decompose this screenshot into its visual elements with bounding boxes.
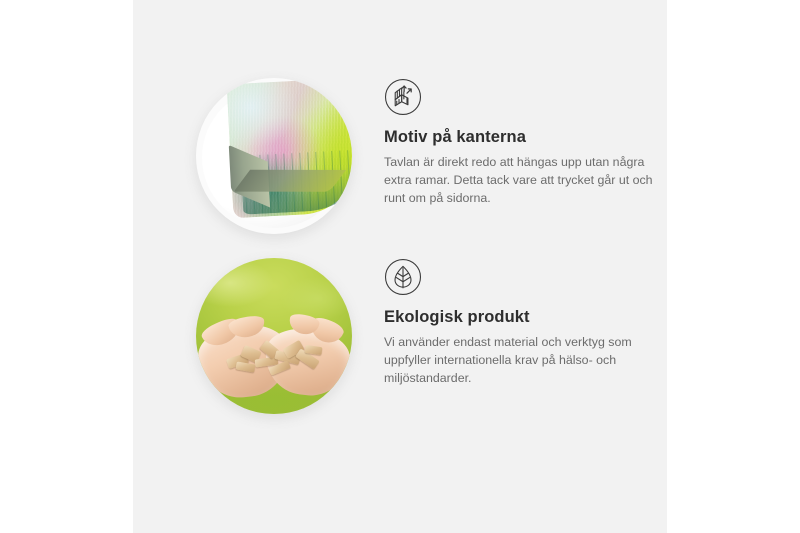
canvas-block [227, 78, 352, 219]
canvas-wrapped-edges-icon [384, 78, 422, 116]
content-panel: Motiv på kanterna Tavlan är direkt redo … [133, 0, 667, 533]
wood-chip [235, 361, 255, 372]
leaf-icon [384, 258, 422, 296]
feature-text-eco: Ekologisk produkt Vi använder endast mat… [384, 258, 656, 388]
feature-block-eco: Ekologisk produkt Vi använder endast mat… [133, 258, 667, 438]
product-feature-infographic: Motiv på kanterna Tavlan är direkt redo … [0, 0, 800, 533]
canvas-print-photo [196, 78, 352, 234]
hands-group [199, 320, 349, 404]
eco-hands-image [196, 258, 352, 414]
feature-text-edges: Motiv på kanterna Tavlan är direkt redo … [384, 78, 656, 208]
canvas-print-image [196, 78, 352, 234]
feature-body: Vi använder endast material och verktyg … [384, 334, 656, 388]
feature-block-edges: Motiv på kanterna Tavlan är direkt redo … [133, 78, 667, 258]
feature-body: Tavlan är direkt redo att hängas upp uta… [384, 154, 656, 208]
feature-title: Ekologisk produkt [384, 308, 656, 327]
feature-title: Motiv på kanterna [384, 128, 656, 147]
wood-chips-group [223, 342, 328, 377]
eco-hands-photo [196, 258, 352, 414]
canvas-bottom-edge [233, 169, 345, 192]
